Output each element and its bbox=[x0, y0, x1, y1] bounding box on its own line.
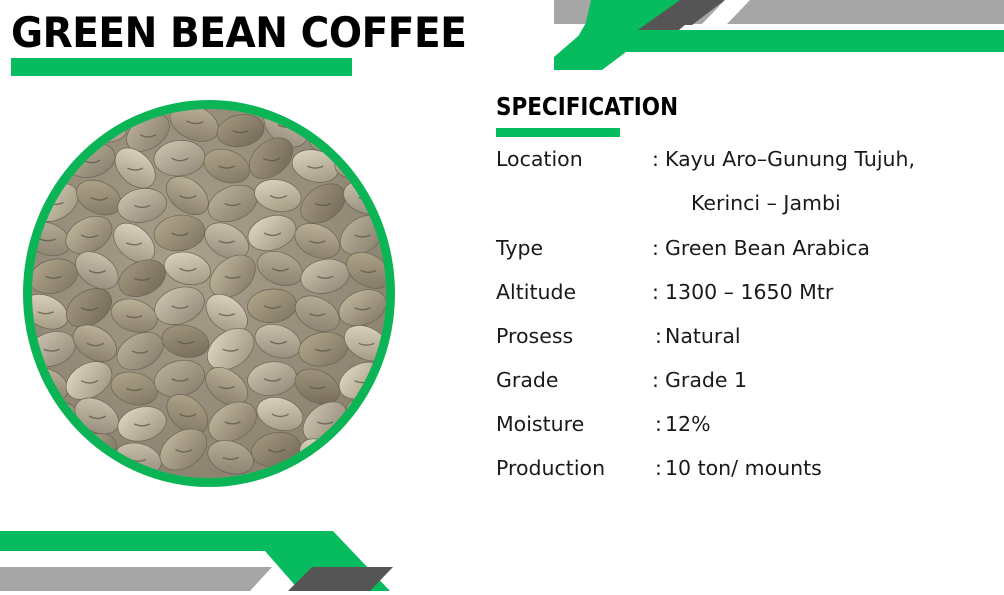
bottom-left-decoration bbox=[0, 519, 500, 591]
spec-value-moisture: 12% bbox=[665, 409, 986, 439]
deco-green-chevron bbox=[554, 0, 1004, 70]
spec-colon-prosess: : bbox=[652, 321, 665, 351]
spec-colon-altitude: : bbox=[652, 277, 665, 307]
specification-underline-bar bbox=[496, 128, 620, 137]
spec-row-altitude: Altitude : 1300 – 1650 Mtr bbox=[496, 277, 986, 321]
spec-value-grade: Grade 1 bbox=[665, 365, 986, 395]
spec-row-location-continued: Kerinci – Jambi bbox=[496, 188, 986, 233]
light-gray-band bbox=[723, 0, 1004, 24]
specification-table: Location : Kayu Aro–Gunung Tujuh, Kerinc… bbox=[496, 144, 986, 497]
spec-row-location: Location : Kayu Aro–Gunung Tujuh, bbox=[496, 144, 986, 188]
spec-label-production: Production bbox=[496, 453, 652, 483]
spec-label-altitude: Altitude bbox=[496, 277, 652, 307]
spec-value-type: Green Bean Arabica bbox=[665, 233, 986, 263]
spec-colon-grade: : bbox=[652, 365, 665, 395]
spec-colon-type: : bbox=[652, 233, 665, 263]
spec-value-prosess: Natural bbox=[665, 321, 986, 351]
spec-row-moisture: Moisture : 12% bbox=[496, 409, 986, 453]
spec-label-moisture: Moisture bbox=[496, 409, 652, 439]
page-title-block: GREEN BEAN COFFEE bbox=[11, 8, 501, 58]
deco-dark-gray-shape bbox=[599, 0, 714, 30]
spec-value-location: Kayu Aro–Gunung Tujuh, bbox=[665, 144, 986, 174]
spec-colon-location: : bbox=[652, 144, 665, 174]
spec-colon-production: : bbox=[652, 453, 665, 483]
spec-value-altitude: 1300 – 1650 Mtr bbox=[665, 277, 986, 307]
spec-label-type: Type bbox=[496, 233, 652, 263]
dark-gray-parallelogram bbox=[609, 0, 725, 25]
green-coffee-beans-photo bbox=[32, 109, 386, 478]
poster-canvas: GREEN BEAN COFFEE bbox=[0, 0, 1004, 591]
spec-label-prosess: Prosess bbox=[496, 321, 652, 351]
title-underline-bar bbox=[11, 58, 352, 76]
spec-value-production: 10 ton/ mounts bbox=[665, 453, 986, 483]
spec-row-prosess: Prosess : Natural bbox=[496, 321, 986, 365]
green-chevron bbox=[560, 0, 1004, 70]
spec-label-location: Location bbox=[496, 144, 652, 174]
spec-value-location-line2: Kerinci – Jambi bbox=[665, 188, 986, 218]
spec-colon-moisture: : bbox=[652, 409, 665, 439]
spec-row-type: Type : Green Bean Arabica bbox=[496, 233, 986, 277]
top-right-decoration-shapes bbox=[560, 0, 1004, 70]
dark-gray-parallelogram-bottom bbox=[288, 567, 393, 591]
product-image-circle bbox=[23, 100, 395, 487]
spec-label-grade: Grade bbox=[496, 365, 652, 395]
white-wedge bbox=[702, 0, 750, 24]
green-band-bottom bbox=[0, 531, 390, 591]
spec-row-production: Production : 10 ton/ mounts bbox=[496, 453, 986, 497]
top-right-decoration bbox=[554, 0, 1004, 70]
light-gray-band-bottom bbox=[0, 567, 272, 591]
spec-row-grade: Grade : Grade 1 bbox=[496, 365, 986, 409]
specification-heading: SPECIFICATION bbox=[496, 92, 917, 122]
deco-light-gray-band bbox=[554, 0, 1004, 24]
specification-panel: SPECIFICATION Location : Kayu Aro–Gunung… bbox=[496, 92, 986, 497]
page-title: GREEN BEAN COFFEE bbox=[11, 8, 466, 58]
